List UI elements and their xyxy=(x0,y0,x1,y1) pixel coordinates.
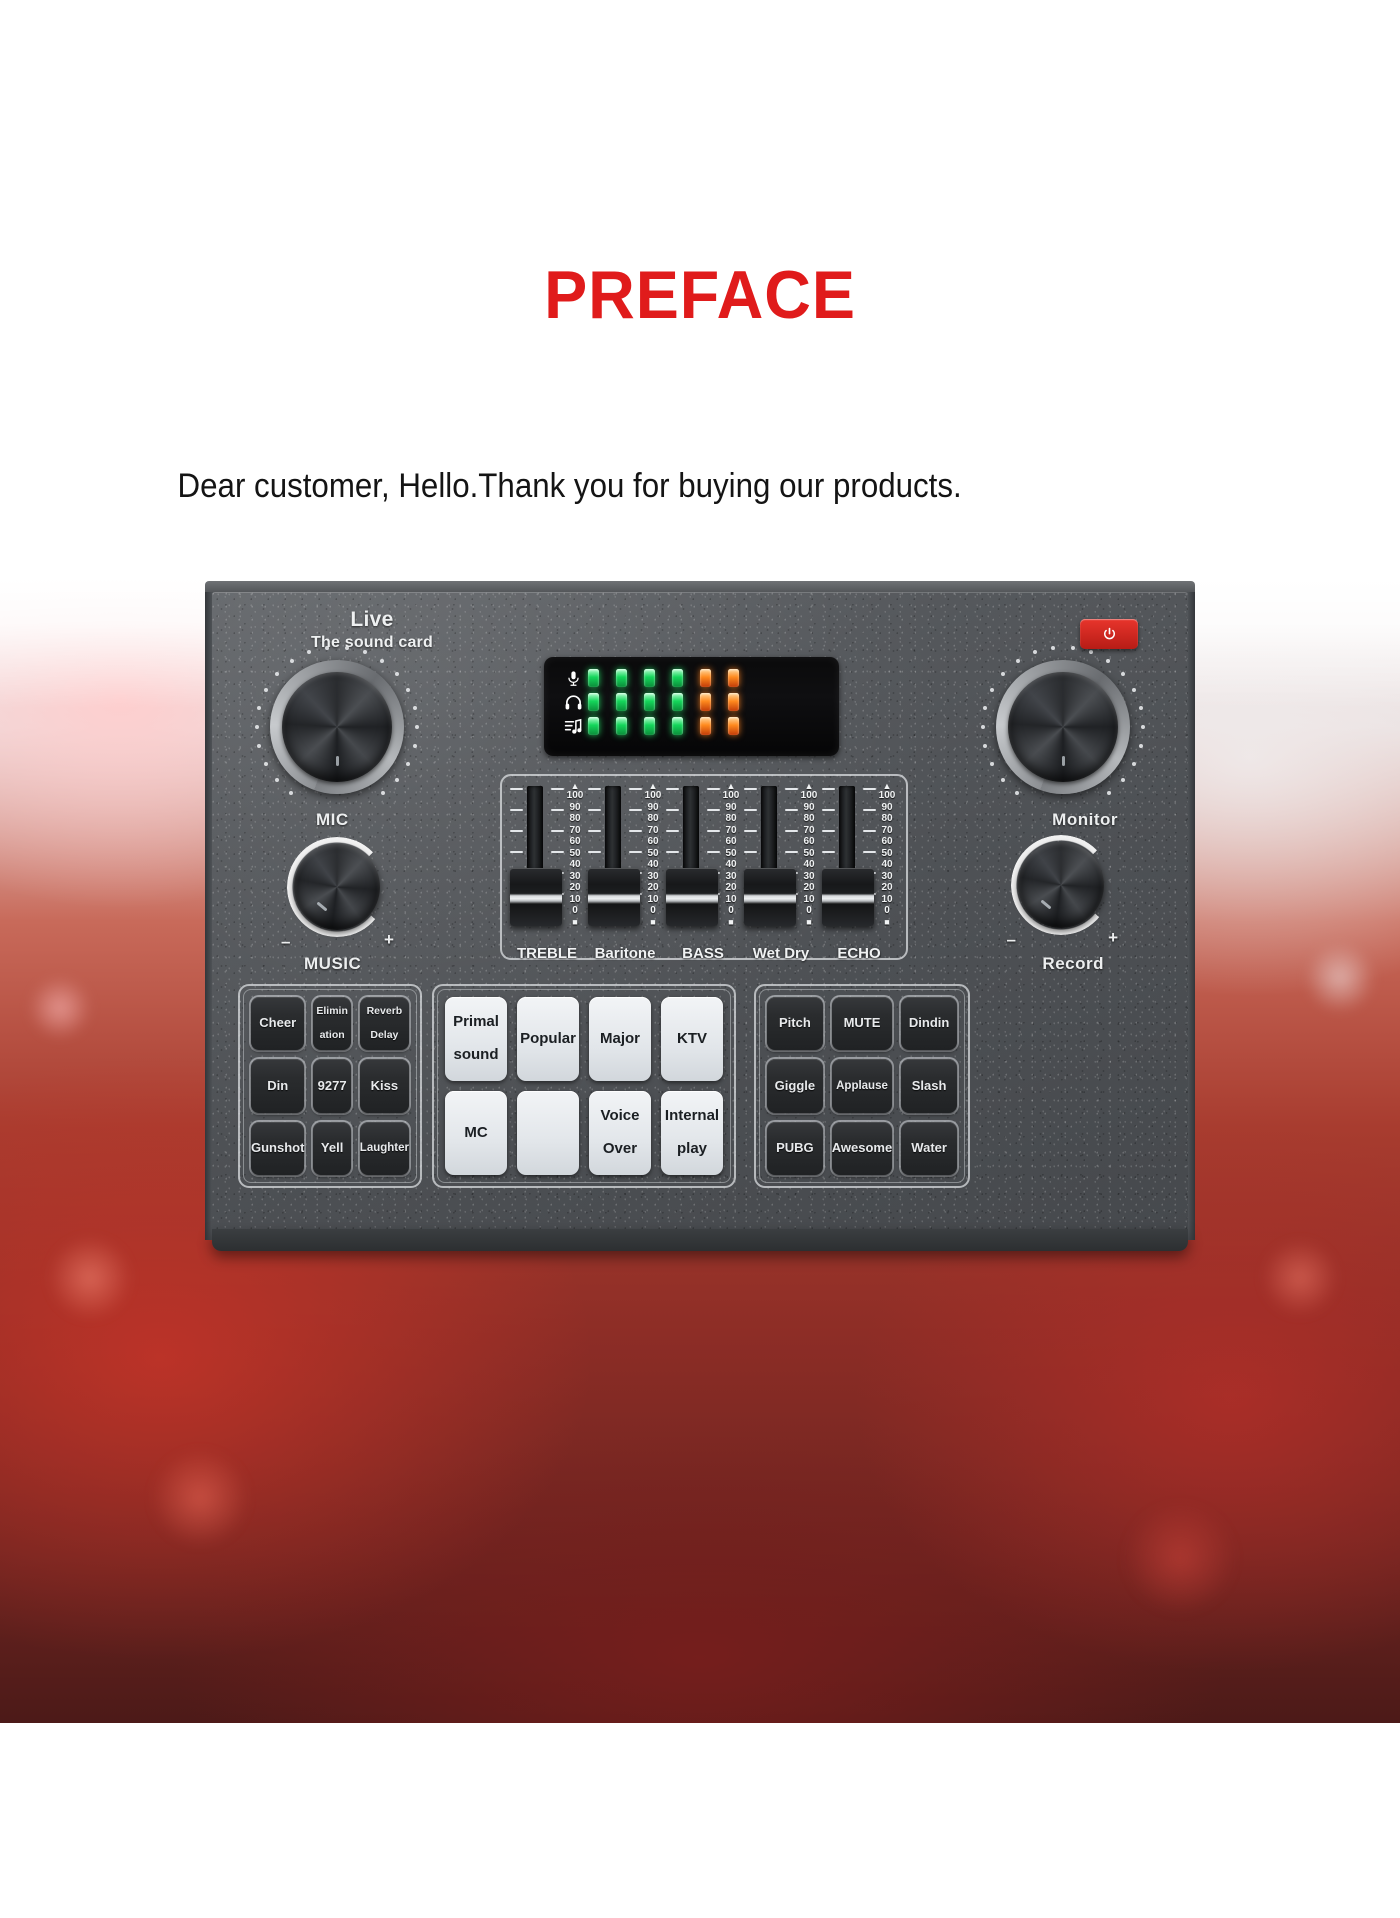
center-pad-button-primal-sound[interactable]: Primalsound xyxy=(445,997,507,1081)
knob-tick-dot xyxy=(275,672,279,676)
fader-tick xyxy=(822,851,835,853)
fader-scale-value: 40 xyxy=(875,859,899,871)
led-cells-mic xyxy=(588,669,756,687)
music-knob-plus: + xyxy=(384,930,394,950)
fader-scale-value: 30 xyxy=(563,871,587,883)
button-label: Popular xyxy=(520,1031,576,1048)
knob-tick-dot xyxy=(983,706,987,710)
knob-tick-dot xyxy=(1033,650,1037,654)
fader-scale-value: 70 xyxy=(641,825,665,837)
fader-tick xyxy=(822,788,835,790)
fader-label: Wet Dry xyxy=(738,945,824,962)
knob-tick-dot xyxy=(406,688,410,692)
record-knob-indicator xyxy=(1040,899,1051,909)
fader-scale-value: 80 xyxy=(641,813,665,825)
fader-scale-bottom-marker: ■ xyxy=(797,917,821,927)
button-label: Applause xyxy=(836,1080,888,1093)
knob-tick-dot xyxy=(1107,791,1111,795)
fader-scale-value: 60 xyxy=(563,836,587,848)
fader-scale-value: 70 xyxy=(797,825,821,837)
knob-tick-dot xyxy=(406,762,410,766)
knob-tick-dot xyxy=(257,706,261,710)
button-label: Reverb xyxy=(367,1006,403,1018)
fader-scale: ▲1009080706050403020100■ xyxy=(563,782,587,942)
center-pad-grid: PrimalsoundPopularMajorKTVMCVoiceOverInt… xyxy=(434,986,734,1186)
button-label: Water xyxy=(911,1141,947,1156)
button-label: Dindin xyxy=(909,1016,949,1031)
fader-scale-value: 50 xyxy=(563,848,587,860)
left-pad-button-din[interactable]: Din xyxy=(251,1059,304,1112)
fader-tick xyxy=(510,830,523,832)
fader-scale-value: 10 xyxy=(641,894,665,906)
fader-scale: ▲1009080706050403020100■ xyxy=(875,782,899,942)
fader-scale-value: 60 xyxy=(875,836,899,848)
led-row-mic xyxy=(558,666,839,690)
fader-scale-bottom-marker: ■ xyxy=(563,917,587,927)
fader-scale: ▲1009080706050403020100■ xyxy=(641,782,665,942)
knob-tick-dot xyxy=(381,791,385,795)
fader-scale-value: 50 xyxy=(641,848,665,860)
fader-tick xyxy=(666,788,679,790)
fader-scale-value: 50 xyxy=(875,848,899,860)
fader-scale-top-marker: ▲ xyxy=(719,782,743,790)
left-pad-button-laughter[interactable]: Laughter xyxy=(360,1122,409,1175)
right-effects-pad: PitchMUTEDindinGiggleApplauseSlashPUBGAw… xyxy=(754,984,970,1188)
music-knob-cap xyxy=(294,844,380,930)
fader-scale-value: 20 xyxy=(719,882,743,894)
fader-tick xyxy=(666,830,679,832)
monitor-knob[interactable] xyxy=(996,660,1130,794)
fader-scale-value: 90 xyxy=(563,802,587,814)
knob-tick-dot xyxy=(264,762,268,766)
fader-scale-value: 30 xyxy=(797,871,821,883)
music-note-icon xyxy=(558,715,588,737)
button-label: Internal xyxy=(665,1108,719,1125)
fader-label: BASS xyxy=(660,945,746,962)
fader-tick xyxy=(744,851,757,853)
fader-bass[interactable]: ▲1009080706050403020100■BASS xyxy=(664,782,742,958)
knob-tick-dot xyxy=(981,725,985,729)
fader-panel: ▲1009080706050403020100■TREBLE▲100908070… xyxy=(500,774,908,960)
center-pad-button-blank[interactable] xyxy=(517,1091,579,1175)
button-label: sound xyxy=(454,1047,499,1064)
knob-tick-dot xyxy=(1001,778,1005,782)
fader-scale-value: 10 xyxy=(563,894,587,906)
button-label: ation xyxy=(320,1030,345,1042)
left-pad-button-cheer[interactable]: Cheer xyxy=(251,997,304,1050)
fader-scale-value: 0 xyxy=(875,905,899,917)
fader-tick xyxy=(822,809,835,811)
knob-tick-dot xyxy=(1001,672,1005,676)
fader-scale-value: 100 xyxy=(719,790,743,802)
page-title: PREFACE xyxy=(35,256,1365,334)
left-pad-button-yell[interactable]: Yell xyxy=(313,1122,350,1175)
fader-group: ▲1009080706050403020100■TREBLE▲100908070… xyxy=(502,776,906,958)
fader-scale-value: 60 xyxy=(641,836,665,848)
music-volume-knob[interactable] xyxy=(294,844,380,930)
monitor-knob-label: Monitor xyxy=(1052,810,1118,830)
fader-scale-value: 80 xyxy=(563,813,587,825)
fader-handle[interactable] xyxy=(510,868,562,926)
button-label: Kiss xyxy=(371,1079,398,1094)
right-pad-button-dindin[interactable]: Dindin xyxy=(901,997,957,1050)
fader-scale-value: 0 xyxy=(797,905,821,917)
mic-knob-label: MIC xyxy=(316,810,349,830)
fader-tick xyxy=(744,809,757,811)
fader-scale-bottom-marker: ■ xyxy=(719,917,743,927)
knob-tick-dot xyxy=(257,744,261,748)
led-row-headphone xyxy=(558,690,839,714)
monitor-knob-dots xyxy=(980,644,1146,810)
fader-tick xyxy=(588,830,601,832)
right-pad-button-awesome[interactable]: Awesome xyxy=(832,1122,892,1175)
right-pad-button-water[interactable]: Water xyxy=(901,1122,957,1175)
left-pad-button-elimin-ation[interactable]: Elimination xyxy=(313,997,350,1050)
knob-tick-dot xyxy=(413,744,417,748)
fader-scale-value: 40 xyxy=(719,859,743,871)
button-label: Major xyxy=(600,1031,640,1048)
led-cells-headphone xyxy=(588,693,756,711)
device-face: Live The sound card MIC xyxy=(212,592,1188,1232)
knob-tick-dot xyxy=(1132,688,1136,692)
fader-scale-value: 90 xyxy=(797,802,821,814)
button-label: Elimin xyxy=(316,1006,348,1018)
fader-scale-value: 40 xyxy=(797,859,821,871)
knob-tick-dot xyxy=(990,688,994,692)
left-pad-button-kiss[interactable]: Kiss xyxy=(360,1059,409,1112)
headphone-icon xyxy=(558,691,588,713)
fader-handle[interactable] xyxy=(822,868,874,926)
button-label: Pitch xyxy=(779,1016,811,1031)
button-label: Over xyxy=(603,1141,637,1158)
fader-scale-value: 10 xyxy=(719,894,743,906)
left-effects-pad: CheerEliminationReverbDelayDin9277KissGu… xyxy=(238,984,422,1188)
right-pad-button-applause[interactable]: Applause xyxy=(832,1059,892,1112)
product-photo: Live The sound card MIC xyxy=(0,578,1400,1723)
button-label: Cheer xyxy=(259,1016,296,1031)
fader-tick xyxy=(588,788,601,790)
fader-scale-value: 60 xyxy=(797,836,821,848)
knob-tick-dot xyxy=(1071,646,1075,650)
knob-tick-dot xyxy=(1016,659,1020,663)
music-knob-minus: – xyxy=(281,932,290,952)
fader-scale-value: 30 xyxy=(875,871,899,883)
led-row-music xyxy=(558,714,839,738)
center-pad-button-major[interactable]: Major xyxy=(589,997,651,1081)
power-button[interactable] xyxy=(1080,619,1138,649)
fader-echo[interactable]: ▲1009080706050403020100■ECHO xyxy=(820,782,898,958)
knob-tick-dot xyxy=(1141,725,1145,729)
fader-scale-value: 70 xyxy=(563,825,587,837)
preface-line-1: Dear customer, Hello.Thank you for buyin… xyxy=(87,464,1214,509)
knob-tick-dot xyxy=(413,706,417,710)
right-pad-button-giggle[interactable]: Giggle xyxy=(767,1059,823,1112)
fader-tick xyxy=(510,851,523,853)
button-label: Primal xyxy=(453,1014,499,1031)
knob-tick-dot xyxy=(415,725,419,729)
fader-wet-dry[interactable]: ▲1009080706050403020100■Wet Dry xyxy=(742,782,820,958)
center-mode-pad: PrimalsoundPopularMajorKTVMCVoiceOverInt… xyxy=(432,984,736,1188)
fader-scale-value: 100 xyxy=(875,790,899,802)
fader-tick xyxy=(666,809,679,811)
fader-scale-value: 40 xyxy=(641,859,665,871)
fader-scale: ▲1009080706050403020100■ xyxy=(719,782,743,942)
fader-scale-value: 30 xyxy=(719,871,743,883)
center-pad-button-internal-play[interactable]: Internalplay xyxy=(661,1091,723,1175)
button-label: Din xyxy=(267,1079,288,1094)
knob-tick-dot xyxy=(395,672,399,676)
knob-tick-dot xyxy=(1132,762,1136,766)
knob-tick-dot xyxy=(1139,744,1143,748)
knob-tick-dot xyxy=(395,778,399,782)
button-label: MC xyxy=(464,1125,487,1142)
fader-handle[interactable] xyxy=(744,868,796,926)
right-pad-button-slash[interactable]: Slash xyxy=(901,1059,957,1112)
record-knob-minus: – xyxy=(1007,930,1016,950)
fader-scale-value: 60 xyxy=(719,836,743,848)
fader-scale-value: 100 xyxy=(641,790,665,802)
right-pad-button-pitch[interactable]: Pitch xyxy=(767,997,823,1050)
fader-scale-bottom-marker: ■ xyxy=(641,917,665,927)
button-label: Slash xyxy=(912,1079,947,1094)
button-label: PUBG xyxy=(776,1141,814,1156)
fader-scale-value: 90 xyxy=(641,802,665,814)
fader-scale-value: 0 xyxy=(719,905,743,917)
microphone-icon xyxy=(558,667,588,689)
knob-tick-dot xyxy=(1106,659,1110,663)
knob-tick-dot xyxy=(275,778,279,782)
knob-tick-dot xyxy=(264,688,268,692)
fader-tick xyxy=(744,788,757,790)
fader-scale-value: 90 xyxy=(875,802,899,814)
knob-tick-dot xyxy=(255,725,259,729)
knob-tick-dot xyxy=(983,744,987,748)
knob-tick-dot xyxy=(1051,646,1055,650)
left-pad-button-gunshot[interactable]: Gunshot xyxy=(251,1122,304,1175)
left-pad-button-reverb-delay[interactable]: ReverbDelay xyxy=(360,997,409,1050)
mic-knob-dots xyxy=(254,644,420,810)
fader-tick xyxy=(510,788,523,790)
music-knob-label: MUSIC xyxy=(304,954,361,974)
fader-scale-top-marker: ▲ xyxy=(875,782,899,790)
fader-label: TREBLE xyxy=(504,945,590,962)
button-label: Delay xyxy=(370,1030,398,1042)
knob-tick-dot xyxy=(1139,706,1143,710)
button-label: play xyxy=(677,1141,707,1158)
fader-label: ECHO xyxy=(816,945,902,962)
fader-scale-value: 90 xyxy=(719,802,743,814)
right-pad-grid: PitchMUTEDindinGiggleApplauseSlashPUBGAw… xyxy=(756,986,968,1186)
fader-scale-top-marker: ▲ xyxy=(641,782,665,790)
center-pad-button-ktv[interactable]: KTV xyxy=(661,997,723,1081)
button-label: Gunshot xyxy=(251,1141,304,1156)
fader-scale-value: 80 xyxy=(719,813,743,825)
fader-scale-value: 20 xyxy=(641,882,665,894)
knob-tick-dot xyxy=(307,650,311,654)
mic-gain-knob[interactable] xyxy=(270,660,404,794)
fader-scale-value: 80 xyxy=(875,813,899,825)
fader-scale-value: 50 xyxy=(719,848,743,860)
center-pad-button-voice-over[interactable]: VoiceOver xyxy=(589,1091,651,1175)
fader-tick xyxy=(510,809,523,811)
fader-scale: ▲1009080706050403020100■ xyxy=(797,782,821,942)
device-bottom-edge xyxy=(212,1229,1188,1251)
fader-handle[interactable] xyxy=(666,868,718,926)
fader-scale-value: 80 xyxy=(797,813,821,825)
knob-tick-dot xyxy=(363,650,367,654)
sound-card-device: Live The sound card MIC xyxy=(205,581,1195,1251)
fader-scale-value: 100 xyxy=(563,790,587,802)
knob-tick-dot xyxy=(1121,778,1125,782)
fader-scale-value: 30 xyxy=(641,871,665,883)
knob-tick-dot xyxy=(1121,672,1125,676)
button-label: KTV xyxy=(677,1031,707,1048)
fader-scale-top-marker: ▲ xyxy=(797,782,821,790)
fader-scale-value: 50 xyxy=(797,848,821,860)
music-knob-indicator xyxy=(316,901,327,911)
fader-tick xyxy=(822,830,835,832)
fader-scale-value: 20 xyxy=(563,882,587,894)
left-pad-button-9277[interactable]: 9277 xyxy=(313,1059,350,1112)
record-knob-plus: + xyxy=(1108,928,1118,948)
button-label: Awesome xyxy=(832,1141,892,1156)
fader-tick xyxy=(588,851,601,853)
fader-scale-value: 10 xyxy=(875,894,899,906)
fader-treble[interactable]: ▲1009080706050403020100■TREBLE xyxy=(508,782,586,958)
fader-handle[interactable] xyxy=(588,868,640,926)
center-pad-button-mc[interactable]: MC xyxy=(445,1091,507,1175)
record-knob-cap xyxy=(1018,842,1104,928)
fader-scale-value: 10 xyxy=(797,894,821,906)
fader-tick xyxy=(666,851,679,853)
left-pad-grid: CheerEliminationReverbDelayDin9277KissGu… xyxy=(240,986,420,1186)
knob-tick-dot xyxy=(290,659,294,663)
button-label: Laughter xyxy=(360,1142,409,1155)
fader-label: Baritone xyxy=(582,945,668,962)
button-label: Voice xyxy=(601,1108,640,1125)
brand-line-1: Live xyxy=(272,608,472,632)
fader-scale-value: 0 xyxy=(641,905,665,917)
knob-tick-dot xyxy=(380,659,384,663)
button-label: Giggle xyxy=(775,1079,815,1094)
knob-tick-dot xyxy=(325,646,329,650)
knob-tick-dot xyxy=(345,646,349,650)
fader-scale-value: 100 xyxy=(797,790,821,802)
fader-scale-value: 0 xyxy=(563,905,587,917)
fader-scale-value: 20 xyxy=(875,882,899,894)
right-pad-button-mute[interactable]: MUTE xyxy=(832,997,892,1050)
right-pad-button-pubg[interactable]: PUBG xyxy=(767,1122,823,1175)
button-label: 9277 xyxy=(318,1079,347,1094)
fader-tick xyxy=(588,809,601,811)
fader-scale-value: 70 xyxy=(875,825,899,837)
knob-tick-dot xyxy=(289,791,293,795)
center-pad-button-popular[interactable]: Popular xyxy=(517,997,579,1081)
knob-tick-dot xyxy=(990,762,994,766)
led-cells-music xyxy=(588,717,756,735)
power-icon xyxy=(1102,627,1117,642)
fader-scale-value: 20 xyxy=(797,882,821,894)
button-label: MUTE xyxy=(844,1016,881,1031)
led-level-display xyxy=(544,657,839,756)
fader-scale-value: 70 xyxy=(719,825,743,837)
fader-scale-value: 40 xyxy=(563,859,587,871)
button-label: Yell xyxy=(321,1141,343,1156)
record-knob-label: Record xyxy=(1042,954,1104,974)
record-knob[interactable] xyxy=(1018,842,1104,928)
fader-baritone[interactable]: ▲1009080706050403020100■Baritone xyxy=(586,782,664,958)
knob-tick-dot xyxy=(1015,791,1019,795)
fader-scale-top-marker: ▲ xyxy=(563,782,587,790)
fader-scale-bottom-marker: ■ xyxy=(875,917,899,927)
fader-tick xyxy=(744,830,757,832)
knob-tick-dot xyxy=(1089,650,1093,654)
